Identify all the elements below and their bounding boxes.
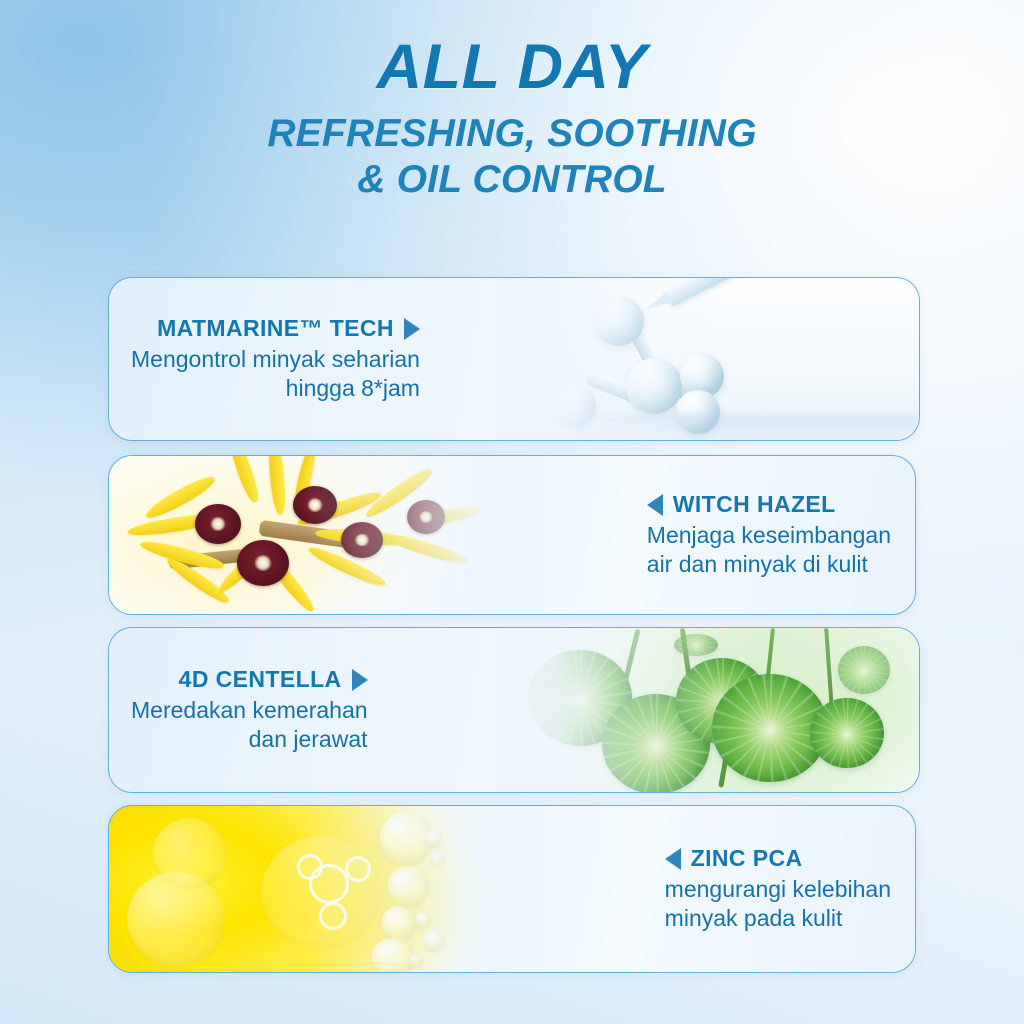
pipette-icon	[663, 278, 806, 307]
ingredient-name-witch-hazel: WITCH HAZEL	[673, 491, 836, 518]
ingredient-card-zinc-pca[interactable]: ZINC PCA mengurangi kelebihan minyak pad…	[108, 805, 916, 973]
triangle-left-icon	[647, 494, 663, 516]
poster-heading-block: ALL DAY REFRESHING, SOOTHING & OIL CONTR…	[0, 36, 1024, 203]
ingredient-card-matmarine[interactable]: MATMARINE™ TECH Mengontrol minyak sehari…	[108, 277, 920, 441]
witch-hazel-text-block: WITCH HAZEL Menjaga keseimbangan air dan…	[647, 456, 891, 614]
ingredient-card-witch-hazel[interactable]: WITCH HAZEL Menjaga keseimbangan air dan…	[108, 455, 916, 615]
page-title: ALL DAY	[0, 36, 1024, 99]
matmarine-text-block: MATMARINE™ TECH Mengontrol minyak sehari…	[131, 278, 420, 440]
witch-hazel-heading-row: WITCH HAZEL	[647, 491, 836, 518]
triangle-right-icon	[404, 318, 420, 340]
centella-leaves-image	[498, 628, 919, 792]
witch-hazel-flower-image	[109, 456, 544, 614]
triangle-left-icon	[665, 848, 681, 870]
centella-desc-line-2: dan jerawat	[249, 726, 368, 752]
matmarine-desc-line-2: hingga 8*jam	[286, 375, 420, 401]
centella-heading-row: 4D CENTELLA	[179, 666, 368, 693]
ingredient-name-matmarine: MATMARINE™ TECH	[157, 315, 394, 342]
ingredient-name-centella: 4D CENTELLA	[179, 666, 342, 693]
zinc-pca-desc-line-1: mengurangi kelebihan	[665, 876, 891, 902]
ingredient-desc-centella: Meredakan kemerahan dan jerawat	[131, 696, 368, 753]
promo-poster: ALL DAY REFRESHING, SOOTHING & OIL CONTR…	[0, 0, 1024, 1024]
ingredient-name-zinc-pca: ZINC PCA	[691, 845, 803, 872]
zinc-pca-desc-line-2: minyak pada kulit	[665, 905, 843, 931]
matmarine-desc-line-1: Mengontrol minyak seharian	[131, 346, 420, 372]
ingredient-card-centella[interactable]: 4D CENTELLA Meredakan kemerahan dan jera…	[108, 627, 920, 793]
page-subtitle: REFRESHING, SOOTHING & OIL CONTROL	[0, 111, 1024, 203]
centella-desc-line-1: Meredakan kemerahan	[131, 697, 368, 723]
subtitle-line-2: & OIL CONTROL	[0, 157, 1024, 203]
molecule-pipette-image	[498, 278, 919, 440]
matmarine-heading-row: MATMARINE™ TECH	[157, 315, 420, 342]
ingredient-desc-matmarine: Mengontrol minyak seharian hingga 8*jam	[131, 345, 420, 402]
centella-text-block: 4D CENTELLA Meredakan kemerahan dan jera…	[131, 628, 368, 792]
yellow-oil-bubbles-image	[109, 806, 544, 972]
subtitle-line-1: REFRESHING, SOOTHING	[267, 112, 756, 155]
ingredient-desc-zinc-pca: mengurangi kelebihan minyak pada kulit	[665, 875, 891, 932]
zinc-pca-text-block: ZINC PCA mengurangi kelebihan minyak pad…	[665, 806, 891, 972]
witch-hazel-desc-line-1: Menjaga keseimbangan	[647, 522, 891, 548]
zinc-pca-heading-row: ZINC PCA	[665, 845, 803, 872]
triangle-right-icon	[352, 669, 368, 691]
ingredient-desc-witch-hazel: Menjaga keseimbangan air dan minyak di k…	[647, 521, 891, 578]
witch-hazel-desc-line-2: air dan minyak di kulit	[647, 551, 868, 577]
